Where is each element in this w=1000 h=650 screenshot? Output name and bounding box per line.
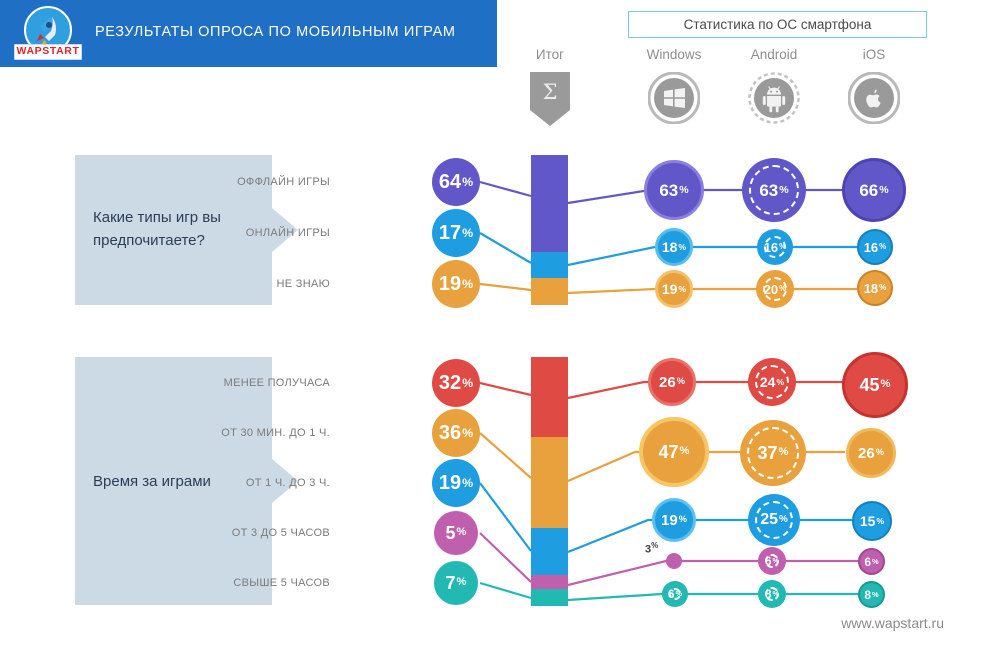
ios-bubble-q2-1[interactable]: 26% bbox=[846, 428, 896, 478]
windows-bubble-q2-0[interactable]: 26% bbox=[648, 358, 696, 406]
total-bubble-q1-2[interactable]: 19% bbox=[432, 260, 480, 308]
row-label-q2-2: ОТ 1 Ч. ДО 3 Ч. bbox=[140, 477, 330, 489]
stack-segment-q2-1 bbox=[531, 437, 568, 528]
ios-bubble-q2-3[interactable]: 6% bbox=[858, 548, 885, 575]
row-label-q1-0: ОФФЛАЙН ИГРЫ bbox=[150, 176, 330, 188]
windows-icon bbox=[648, 72, 700, 129]
stack-segment-q2-0 bbox=[531, 357, 568, 437]
row-label-q2-3: ОТ 3 ДО 5 ЧАСОВ bbox=[140, 527, 330, 539]
column-head-total: Итог bbox=[490, 47, 610, 62]
android-bubble-q2-1[interactable]: 37% bbox=[740, 420, 806, 486]
windows-bubble-q2-2[interactable]: 19% bbox=[652, 498, 696, 542]
android-bubble-q2-2[interactable]: 25% bbox=[748, 494, 800, 546]
stack-segment-q1-2 bbox=[531, 278, 568, 305]
row-label-q1-1: ОНЛАЙН ИГРЫ bbox=[150, 227, 330, 239]
android-bubble-q2-4[interactable]: 8% bbox=[758, 580, 786, 608]
page-title: РЕЗУЛЬТАТЫ ОПРОСА ПО МОБИЛЬНЫМ ИГРАМ bbox=[95, 24, 485, 40]
android-bubble-q1-2[interactable]: 20% bbox=[756, 270, 794, 308]
android-bubble-q2-0[interactable]: 24% bbox=[748, 358, 796, 406]
stacked-bar-q1 bbox=[531, 155, 568, 305]
android-bubble-q2-3[interactable]: 6% bbox=[758, 547, 786, 575]
windows-bubble-q1-2[interactable]: 19% bbox=[655, 270, 693, 308]
ios-bubble-q1-1[interactable]: 16% bbox=[857, 229, 893, 265]
stat-box-label: Статистика по ОС смартфона bbox=[628, 11, 927, 38]
ios-bubble-q1-2[interactable]: 18% bbox=[857, 270, 893, 306]
windows-bubble-q2-1[interactable]: 47% bbox=[639, 417, 709, 487]
android-bubble-q1-0[interactable]: 63% bbox=[742, 158, 806, 222]
stacked-bar-q2 bbox=[531, 357, 568, 606]
total-bubble-q2-1[interactable]: 36% bbox=[432, 409, 480, 457]
ios-bubble-q2-4[interactable]: 8% bbox=[858, 581, 885, 608]
total-bubble-q1-0[interactable]: 64% bbox=[432, 158, 480, 206]
logo-wordmark: WAPSTART bbox=[14, 44, 82, 60]
windows-bubble-q1-0[interactable]: 63% bbox=[644, 160, 704, 220]
stack-segment-q1-1 bbox=[531, 252, 568, 278]
svg-text:Σ: Σ bbox=[543, 80, 558, 104]
android-icon bbox=[748, 72, 800, 129]
windows-value-label-q2-3: 3% bbox=[645, 541, 658, 556]
wapstart-logo: WAPSTART bbox=[10, 6, 86, 64]
row-label-q2-1: ОТ 30 МИН. ДО 1 Ч. bbox=[140, 427, 330, 439]
total-bubble-q1-1[interactable]: 17% bbox=[432, 209, 480, 257]
total-bubble-q2-4[interactable]: 7% bbox=[434, 561, 478, 605]
row-label-q2-4: СВЫШЕ 5 ЧАСОВ bbox=[140, 577, 330, 589]
windows-bubble-q2-4[interactable]: 6% bbox=[662, 581, 688, 607]
apple-icon bbox=[848, 72, 900, 129]
android-bubble-q1-1[interactable]: 16% bbox=[757, 229, 793, 265]
ios-bubble-q2-2[interactable]: 15% bbox=[852, 501, 892, 541]
total-bubble-q2-2[interactable]: 19% bbox=[432, 459, 480, 507]
total-bubble-q2-3[interactable]: 5% bbox=[434, 511, 478, 555]
infographic-canvas: WAPSTART РЕЗУЛЬТАТЫ ОПРОСА ПО МОБИЛЬНЫМ … bbox=[0, 0, 1000, 650]
stack-segment-q2-2 bbox=[531, 528, 568, 575]
footer-url: www.wapstart.ru bbox=[841, 615, 944, 631]
windows-dot-q2-3[interactable] bbox=[666, 553, 682, 569]
windows-bubble-q1-1[interactable]: 18% bbox=[655, 228, 693, 266]
sigma-badge-icon: Σ bbox=[530, 72, 570, 131]
row-label-q1-2: НЕ ЗНАЮ bbox=[150, 278, 330, 290]
stack-segment-q2-4 bbox=[531, 589, 568, 606]
stack-segment-q1-0 bbox=[531, 155, 568, 252]
ios-bubble-q2-0[interactable]: 45% bbox=[842, 352, 908, 418]
stack-segment-q2-3 bbox=[531, 575, 568, 589]
row-label-q2-0: МЕНЕЕ ПОЛУЧАСА bbox=[140, 377, 330, 389]
total-bubble-q2-0[interactable]: 32% bbox=[432, 359, 480, 407]
ios-bubble-q1-0[interactable]: 66% bbox=[842, 158, 906, 222]
column-head-ios: iOS bbox=[814, 47, 934, 62]
